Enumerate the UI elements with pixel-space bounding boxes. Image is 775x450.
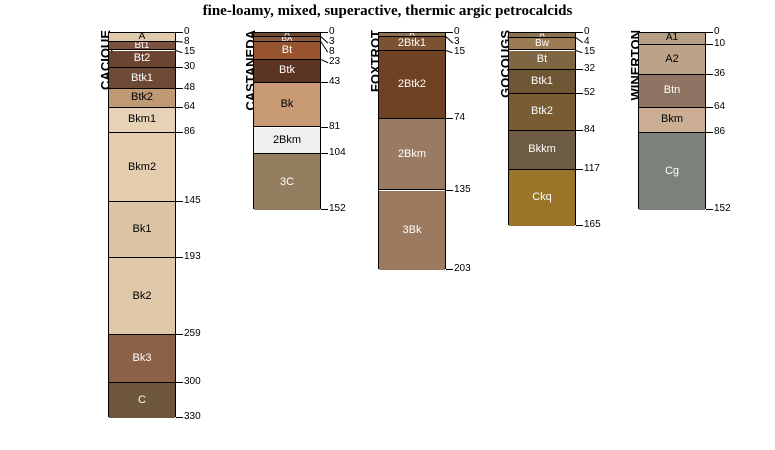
horizon-label: 3C xyxy=(280,177,294,188)
horizon-band[interactable]: Btk xyxy=(254,60,320,83)
horizon-label: Btk2 xyxy=(131,92,153,103)
horizon-label: C xyxy=(138,395,146,406)
depth-label: 86 xyxy=(714,126,725,137)
depth-tick xyxy=(176,132,183,133)
chart-title: fine-loamy, mixed, superactive, thermic … xyxy=(0,3,775,20)
horizon-band[interactable]: Btn xyxy=(639,75,705,108)
depth-tick xyxy=(176,382,183,383)
depth-tick xyxy=(321,32,328,33)
horizon-band[interactable]: C xyxy=(109,383,175,418)
horizon-band[interactable]: A1 xyxy=(639,33,705,45)
depth-tick xyxy=(321,127,328,128)
depth-label: 48 xyxy=(184,82,195,93)
depth-label: 32 xyxy=(584,63,595,74)
horizon-label: Bk1 xyxy=(133,224,152,235)
horizon-label: 2Bkm xyxy=(273,135,301,146)
profile-column-winerton[interactable]: A1A2BtnBkmCg xyxy=(638,32,706,209)
horizon-label: Bt xyxy=(282,45,292,56)
horizon-band[interactable]: Bt xyxy=(509,51,575,71)
horizon-label: Bkkm xyxy=(528,144,556,155)
depth-label: 117 xyxy=(584,163,600,174)
depth-tick xyxy=(446,118,453,119)
horizon-label: Btk1 xyxy=(131,73,153,84)
depth-label: 74 xyxy=(454,112,465,123)
horizon-label: Cg xyxy=(665,166,679,177)
depth-tick xyxy=(176,334,183,335)
horizon-label: Bw xyxy=(535,39,549,49)
depth-label: 300 xyxy=(184,376,201,387)
depth-label: 145 xyxy=(184,195,201,206)
profile-column-foxtrot[interactable]: A2Btk12Btk22Bkm3Bk xyxy=(378,32,446,269)
depth-label: 84 xyxy=(584,124,595,135)
horizon-band[interactable]: Bkm1 xyxy=(109,108,175,134)
horizon-band[interactable]: Ckq xyxy=(509,170,575,226)
depth-label: 165 xyxy=(584,219,601,230)
horizon-label: Bkm2 xyxy=(128,162,156,173)
depth-tick xyxy=(576,225,583,226)
depth-tick xyxy=(576,32,583,33)
horizon-band[interactable]: Btk2 xyxy=(509,94,575,131)
depth-label: 86 xyxy=(184,126,195,137)
depth-label: 104 xyxy=(329,147,346,158)
depth-tick xyxy=(176,417,183,418)
horizon-band[interactable]: Bkm xyxy=(639,108,705,134)
horizon-band[interactable]: Bt1 xyxy=(109,42,175,50)
horizon-band[interactable]: Bk1 xyxy=(109,202,175,258)
depth-tick xyxy=(321,209,328,210)
depth-tick xyxy=(446,269,453,270)
depth-label: 135 xyxy=(454,184,471,195)
horizon-label: Bk xyxy=(281,99,294,110)
horizon-label: Bk3 xyxy=(133,353,152,364)
depth-tick xyxy=(706,107,713,108)
depth-tick xyxy=(446,190,453,191)
depth-tick xyxy=(576,130,583,131)
depth-label: 64 xyxy=(184,101,195,112)
horizon-label: Btn xyxy=(664,85,681,96)
horizon-label: 2Btk2 xyxy=(398,79,426,90)
depth-label: 64 xyxy=(714,101,725,112)
depth-label: 52 xyxy=(584,87,595,98)
horizon-label: A2 xyxy=(665,54,678,65)
horizon-band[interactable]: 2Bkm xyxy=(379,119,445,190)
depth-tick xyxy=(706,74,713,75)
depth-tick xyxy=(446,50,453,53)
horizon-band[interactable]: Btk1 xyxy=(509,70,575,93)
horizon-band[interactable]: 3C xyxy=(254,154,320,210)
depth-label: 81 xyxy=(329,121,340,132)
horizon-band[interactable]: 2Btk1 xyxy=(379,37,445,51)
horizon-band[interactable]: 2Btk2 xyxy=(379,51,445,120)
horizon-band[interactable]: Btk2 xyxy=(109,89,175,108)
depth-tick xyxy=(576,169,583,170)
depth-label: 10 xyxy=(714,38,725,49)
horizon-label: Bk2 xyxy=(133,291,152,302)
horizon-label: Btk1 xyxy=(531,76,553,87)
depth-label: 30 xyxy=(184,61,195,72)
horizon-band[interactable]: Bkm2 xyxy=(109,133,175,202)
depth-tick xyxy=(321,153,328,154)
depth-tick xyxy=(575,37,583,43)
horizon-band[interactable]: Bkkm xyxy=(509,131,575,170)
profile-column-castaneda[interactable]: ABABtBtkBk2Bkm3C xyxy=(253,32,321,209)
depth-label: 15 xyxy=(184,46,195,57)
horizon-band[interactable]: Bk2 xyxy=(109,258,175,335)
horizon-band[interactable]: Bw xyxy=(509,38,575,51)
depth-tick xyxy=(576,93,583,94)
depth-label: 259 xyxy=(184,328,201,339)
horizon-band[interactable]: Bt2 xyxy=(109,51,175,69)
depth-label: 43 xyxy=(329,76,340,87)
horizon-label: Bt2 xyxy=(134,53,151,64)
depth-tick xyxy=(176,257,183,258)
depth-tick xyxy=(176,107,183,108)
depth-label: 15 xyxy=(454,46,465,57)
depth-tick xyxy=(706,44,713,45)
horizon-label: 2Bkm xyxy=(398,149,426,160)
depth-tick xyxy=(321,82,328,83)
horizon-band[interactable]: Bk xyxy=(254,83,320,127)
soil-profile-chart: fine-loamy, mixed, superactive, thermic … xyxy=(0,0,775,450)
depth-tick xyxy=(706,32,713,33)
depth-tick xyxy=(176,41,183,43)
profile-column-gocougs[interactable]: ABwBtBtk1Btk2BkkmCkq xyxy=(508,32,576,225)
horizon-label: Bt xyxy=(537,54,547,65)
horizon-label: 3Bk xyxy=(403,225,422,236)
depth-tick xyxy=(176,201,183,202)
horizon-label: Btk2 xyxy=(531,106,553,117)
horizon-band[interactable]: A2 xyxy=(639,45,705,75)
depth-label: 15 xyxy=(584,46,595,57)
horizon-label: Bkm1 xyxy=(128,114,156,125)
depth-tick xyxy=(576,69,583,70)
horizon-band[interactable]: Bt xyxy=(254,42,320,60)
horizon-band[interactable]: 2Bkm xyxy=(254,128,320,155)
horizon-label: Bkm xyxy=(661,114,683,125)
horizon-band[interactable]: A xyxy=(109,33,175,42)
horizon-label: A xyxy=(139,33,146,42)
horizon-band[interactable]: Cg xyxy=(639,133,705,210)
depth-label: 203 xyxy=(454,263,471,274)
horizon-band[interactable]: Bk3 xyxy=(109,335,175,383)
depth-tick xyxy=(176,88,183,89)
horizon-label: A1 xyxy=(666,33,678,43)
depth-label: 23 xyxy=(329,56,340,67)
depth-label: 36 xyxy=(714,68,725,79)
depth-tick xyxy=(445,36,453,43)
depth-label: 330 xyxy=(184,411,201,422)
depth-tick xyxy=(176,67,183,68)
depth-tick xyxy=(176,32,183,33)
horizon-label: Btk xyxy=(279,65,295,76)
horizon-band[interactable]: 3Bk xyxy=(379,191,445,270)
horizon-label: Bt1 xyxy=(134,42,149,50)
depth-tick xyxy=(321,59,328,63)
depth-label: 152 xyxy=(329,203,346,214)
depth-label: 193 xyxy=(184,251,201,262)
depth-tick xyxy=(446,32,453,33)
horizon-band[interactable]: Btk1 xyxy=(109,68,175,89)
depth-tick xyxy=(576,50,583,53)
depth-tick xyxy=(706,209,713,210)
depth-label: 152 xyxy=(714,203,731,214)
depth-tick xyxy=(706,132,713,133)
profile-column-cacique[interactable]: ABt1Bt2Btk1Btk2Bkm1Bkm2Bk1Bk2Bk3C xyxy=(108,32,176,417)
depth-label: 0 xyxy=(714,26,720,37)
horizon-label: 2Btk1 xyxy=(398,38,426,49)
depth-tick xyxy=(176,50,183,53)
horizon-label: Ckq xyxy=(532,192,552,203)
